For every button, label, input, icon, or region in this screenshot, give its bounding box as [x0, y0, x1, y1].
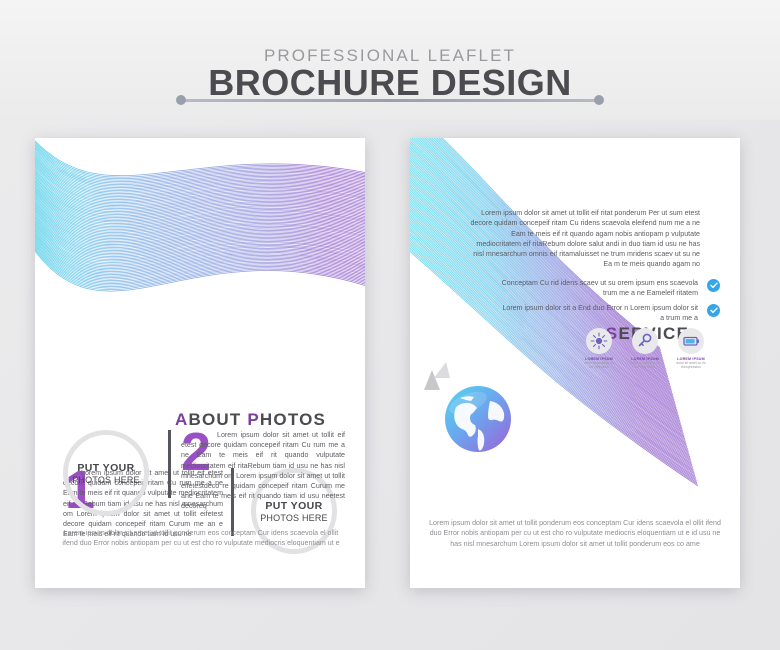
- feature-item-1[interactable]: LOREM IPSUM dolor sit amet cu ris theoph…: [582, 328, 616, 370]
- check-badge-1: [707, 279, 720, 292]
- globe-icon: [440, 381, 516, 457]
- header-divider-rule: [180, 99, 600, 102]
- feature-item-2[interactable]: LOREM IPSUM dolor sit amet cu ris theoph…: [628, 328, 662, 370]
- header-divider-dot-left: [176, 95, 186, 105]
- feature-item-3[interactable]: LOREM IPSUM dolor sit amet cu ris theoph…: [674, 328, 708, 370]
- photo-placeholder-label-2: PUT YOUR PHOTOS HERE: [63, 462, 149, 485]
- bullet-text-1: Conceptam Cu rid idens scaev ut su orem …: [500, 278, 698, 299]
- service-body-text: Lorem ipsum dolor sit amet ut tollit eif…: [470, 208, 700, 270]
- heading-initial-p: P: [247, 410, 260, 429]
- sun-gear-icon: [586, 328, 612, 354]
- placeholder-2-line-2: PHOTOS HERE: [63, 475, 149, 485]
- heading-rest-2: HOTOS: [260, 410, 326, 429]
- feature-3-sub: dolor sit amet cu ris theophrastus: [674, 361, 708, 370]
- block-2-text: Lorem ipsum dolor sit amet ut tollit eif…: [181, 430, 345, 512]
- placeholder-1-line-2: PHOTOS HERE: [251, 513, 337, 523]
- feature-2-sub: dolor sit amet cu ris theophrastus: [628, 361, 662, 370]
- right-page-footer: Lorem ipsum dolor sit amet ut tollit pon…: [428, 518, 722, 549]
- page-title: BROCHURE DESIGN: [0, 62, 780, 104]
- header-divider-dot-right: [594, 95, 604, 105]
- left-page-footer: Lorem ipsum dolor sit amet ut tollit pon…: [57, 528, 345, 549]
- feature-1-sub: dolor sit amet cu ris theophrastus: [582, 361, 616, 370]
- battery-icon: [678, 328, 704, 354]
- check-badge-2: [707, 304, 720, 317]
- bullet-text-2: Lorem ipsum dolor sit a End duo Error n …: [500, 303, 698, 324]
- placeholder-2-line-1: PUT YOUR: [63, 462, 149, 474]
- feature-1-label: LOREM IPSUM dolor sit amet cu ris theoph…: [582, 357, 616, 370]
- brochure-page-right: SERVICE_ Lorem ipsum dolor sit amet ut t…: [410, 138, 740, 588]
- feature-3-label: LOREM IPSUM dolor sit amet cu ris theoph…: [674, 357, 708, 370]
- block-2-divider: [168, 430, 171, 498]
- header-banner: PROFESSIONAL LEAFLET BROCHURE DESIGN: [0, 0, 780, 120]
- feature-2-label: LOREM IPSUM dolor sit amet cu ris theoph…: [628, 357, 662, 370]
- magnifier-key-icon: [632, 328, 658, 354]
- brochure-page-left: ABOUT PHOTOS 1 Lorem ipsum dolor sit ame…: [35, 138, 365, 588]
